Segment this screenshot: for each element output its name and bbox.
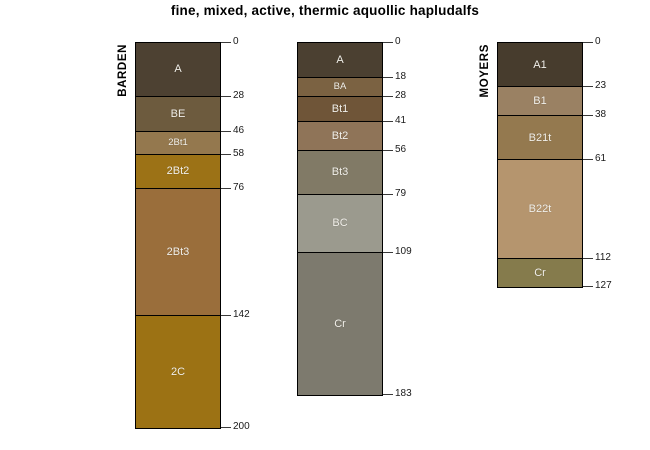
depth-tick	[383, 194, 393, 195]
horizon-label: Bt3	[332, 166, 349, 178]
soil-horizon-bt3[interactable]: Bt3	[298, 151, 382, 195]
depth-value-label: 0	[233, 36, 239, 47]
horizon-label: A	[336, 54, 343, 66]
profile-column: ABABt1Bt2Bt3BCCr	[297, 42, 383, 396]
depth-value-label: 183	[395, 388, 412, 399]
soil-horizon-b21t[interactable]: B21t	[498, 116, 582, 160]
depth-value-label: 56	[395, 144, 406, 155]
profile-column: A1B1B21tB22tCr	[497, 42, 583, 288]
depth-value-label: 61	[595, 153, 606, 164]
depth-value-label: 0	[595, 36, 601, 47]
depth-value-label: 28	[395, 90, 406, 101]
depth-tick	[583, 86, 593, 87]
depth-value-label: 127	[595, 280, 612, 291]
soil-horizon-2bt3[interactable]: 2Bt3	[136, 189, 220, 316]
depth-value-label: 76	[233, 182, 244, 193]
depth-tick	[583, 115, 593, 116]
depth-value-label: 200	[233, 421, 250, 432]
depth-value-label: 23	[595, 80, 606, 91]
horizon-label: BA	[334, 81, 347, 92]
soil-horizon-2c[interactable]: 2C	[136, 316, 220, 428]
soil-horizon-bt1[interactable]: Bt1	[298, 97, 382, 122]
depth-tick	[221, 42, 231, 43]
soil-horizon-ba[interactable]: BA	[298, 78, 382, 97]
soil-horizon-2bt1[interactable]: 2Bt1	[136, 132, 220, 155]
depth-value-label: 28	[233, 90, 244, 101]
depth-value-label: 0	[395, 36, 401, 47]
depth-tick	[221, 154, 231, 155]
depth-tick	[221, 427, 231, 428]
horizon-label: A1	[533, 59, 546, 71]
depth-value-label: 79	[395, 188, 406, 199]
horizon-label: BE	[171, 108, 186, 120]
depth-tick	[221, 131, 231, 132]
horizon-label: Cr	[534, 267, 546, 279]
depth-value-label: 41	[395, 115, 406, 126]
soil-horizon-2bt2[interactable]: 2Bt2	[136, 155, 220, 190]
profile-column: ABE2Bt12Bt22Bt32C	[135, 42, 221, 429]
depth-tick	[383, 77, 393, 78]
soil-horizon-a1[interactable]: A1	[498, 43, 582, 87]
soil-horizon-cr[interactable]: Cr	[498, 259, 582, 288]
depth-tick	[383, 252, 393, 253]
depth-value-label: 142	[233, 309, 250, 320]
soil-horizon-a[interactable]: A	[136, 43, 220, 97]
soil-horizon-be[interactable]: BE	[136, 97, 220, 132]
depth-tick	[383, 42, 393, 43]
horizon-label: Bt1	[332, 103, 349, 115]
depth-value-label: 109	[395, 246, 412, 257]
depth-tick	[383, 121, 393, 122]
depth-tick	[583, 159, 593, 160]
horizon-label: 2Bt1	[168, 137, 188, 148]
horizon-label: 2Bt2	[167, 165, 190, 177]
horizon-label: BC	[332, 217, 347, 229]
depth-tick	[383, 96, 393, 97]
horizon-label: Cr	[334, 318, 346, 330]
depth-tick	[383, 150, 393, 151]
horizon-label: B21t	[529, 132, 552, 144]
depth-tick	[383, 394, 393, 395]
horizon-label: Bt2	[332, 130, 349, 142]
depth-tick	[221, 315, 231, 316]
horizon-label: A	[174, 63, 181, 75]
horizon-label: B22t	[529, 203, 552, 215]
depth-tick	[583, 258, 593, 259]
horizon-label: 2Bt3	[167, 246, 190, 258]
depth-value-label: 112	[595, 252, 611, 263]
chart-title: fine, mixed, active, thermic aquollic ha…	[0, 3, 650, 18]
depth-value-label: 18	[395, 71, 406, 82]
horizon-label: B1	[533, 95, 546, 107]
horizon-label: 2C	[171, 366, 185, 378]
depth-tick	[583, 286, 593, 287]
soil-horizon-cr[interactable]: Cr	[298, 253, 382, 395]
profile-name-label: BARDEN	[117, 44, 129, 97]
soil-horizon-bc[interactable]: BC	[298, 195, 382, 253]
depth-tick	[221, 188, 231, 189]
depth-tick	[583, 42, 593, 43]
soil-horizon-b1[interactable]: B1	[498, 87, 582, 116]
soil-horizon-a[interactable]: A	[298, 43, 382, 78]
profile-name-label: MOYERS	[479, 44, 491, 97]
depth-value-label: 58	[233, 148, 244, 159]
soil-horizon-bt2[interactable]: Bt2	[298, 122, 382, 151]
soil-profile-chart: fine, mixed, active, thermic aquollic ha…	[0, 0, 650, 450]
depth-tick	[221, 96, 231, 97]
depth-value-label: 46	[233, 125, 244, 136]
soil-horizon-b22t[interactable]: B22t	[498, 160, 582, 258]
depth-value-label: 38	[595, 109, 606, 120]
